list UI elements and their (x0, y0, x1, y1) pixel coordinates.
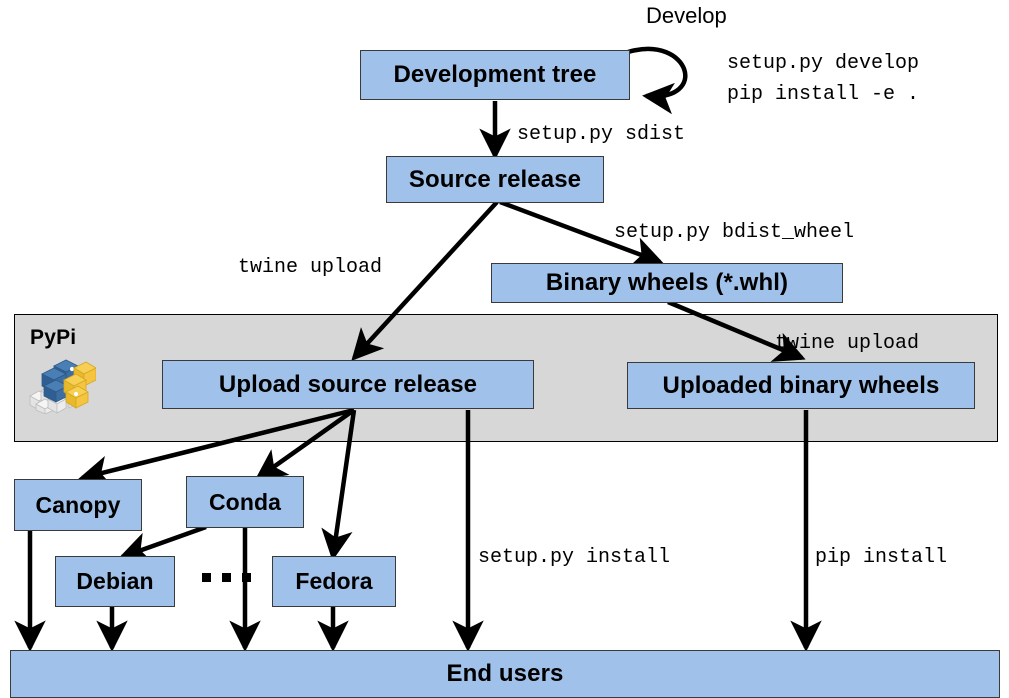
ellipsis-dot (222, 573, 231, 582)
node-conda[interactable]: Conda (186, 476, 304, 528)
label-setup-install: setup.py install (478, 545, 670, 570)
label-pip-install: pip install (815, 545, 947, 570)
node-conda-label: Conda (209, 489, 281, 516)
node-uploaded-binary-wheels[interactable]: Uploaded binary wheels (627, 362, 975, 409)
node-debian[interactable]: Debian (55, 556, 175, 607)
node-canopy-label: Canopy (36, 492, 121, 519)
node-binary-wheels-label: Binary wheels (*.whl) (546, 269, 788, 297)
ellipsis-dot (242, 573, 251, 582)
ellipsis-dot (202, 573, 211, 582)
label-develop-command-2: pip install -e . (727, 82, 919, 107)
node-uploaded-binary-wheels-label: Uploaded binary wheels (663, 372, 940, 400)
node-fedora-label: Fedora (295, 568, 372, 595)
node-debian-label: Debian (76, 568, 153, 595)
diagram-canvas: PyPi (0, 0, 1009, 698)
node-fedora[interactable]: Fedora (272, 556, 396, 607)
edge-upload-to-canopy (82, 410, 354, 478)
edge-upload-to-fedora (333, 410, 354, 557)
ellipsis-marker (202, 573, 251, 582)
node-end-users-label: End users (447, 660, 564, 688)
edge-source-to-upload-source (354, 202, 497, 358)
node-binary-wheels[interactable]: Binary wheels (*.whl) (491, 263, 843, 303)
node-end-users[interactable]: End users (10, 650, 1000, 698)
node-development-tree-label: Development tree (394, 61, 597, 89)
node-development-tree[interactable]: Development tree (360, 50, 630, 100)
label-twine-upload-wheels: twine upload (775, 331, 919, 356)
label-setup-sdist: setup.py sdist (517, 122, 685, 147)
label-develop-command-1: setup.py develop (727, 51, 919, 76)
node-canopy[interactable]: Canopy (14, 479, 142, 531)
node-upload-source-release[interactable]: Upload source release (162, 360, 534, 409)
node-source-release-label: Source release (409, 166, 581, 194)
label-develop: Develop (646, 3, 727, 29)
node-source-release[interactable]: Source release (386, 156, 604, 203)
label-twine-upload-source: twine upload (238, 255, 382, 280)
node-upload-source-release-label: Upload source release (219, 371, 477, 399)
edge-conda-to-debian (122, 527, 206, 557)
edge-develop-loop (628, 49, 685, 96)
label-setup-bdist-wheel: setup.py bdist_wheel (614, 220, 854, 245)
